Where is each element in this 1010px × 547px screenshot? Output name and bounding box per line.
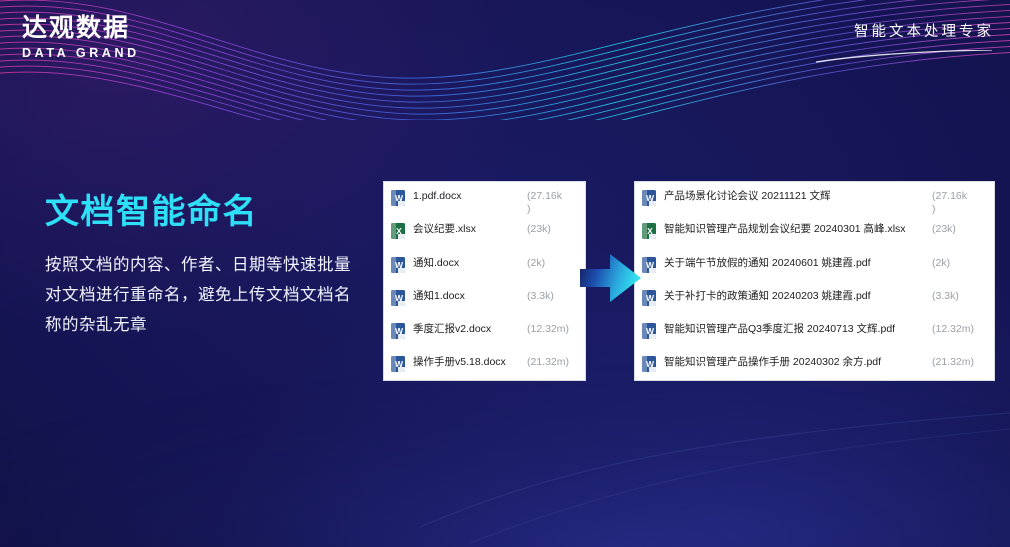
file-list-item[interactable]: W通知.docx(2k) bbox=[384, 249, 585, 282]
word-file-icon: W bbox=[391, 257, 405, 273]
file-list-item[interactable]: W智能知识管理产品Q3季度汇报 20240713 文辉.pdf(12.32m) bbox=[635, 315, 994, 348]
word-file-icon: W bbox=[642, 323, 656, 339]
file-list-before-panel: W1.pdf.docx(27.16k )X会议纪要.xlsx(23k)W通知.d… bbox=[383, 181, 586, 381]
file-list-item[interactable]: X智能知识管理产品规划会议纪要 20240301 高峰.xlsx(23k) bbox=[635, 215, 994, 248]
page-description: 按照文档的内容、作者、日期等快速批量对文档进行重命名，避免上传文档文档名称的杂乱… bbox=[45, 250, 365, 340]
file-list-item[interactable]: W通知1.docx(3.3k) bbox=[384, 282, 585, 315]
file-list-item[interactable]: W季度汇报v2.docx(12.32m) bbox=[384, 315, 585, 348]
file-name: 产品场景化讨论会议 20211121 文辉 bbox=[664, 190, 932, 203]
file-list-item[interactable]: W1.pdf.docx(27.16k ) bbox=[384, 182, 585, 215]
word-file-icon: W bbox=[642, 190, 656, 206]
excel-file-icon: X bbox=[391, 223, 405, 239]
page-title: 文档智能命名 bbox=[45, 192, 365, 232]
file-size: (27.16k ) bbox=[932, 190, 990, 216]
file-size: (12.32m) bbox=[527, 323, 581, 336]
slide-canvas: 达观数据 DATA GRAND 智能文本处理专家 文档智能命名 按照文档的内容、… bbox=[0, 0, 1010, 547]
file-size: (23k) bbox=[527, 223, 581, 236]
file-name: 关于补打卡的政策通知 20240203 姚建霞.pdf bbox=[664, 290, 932, 303]
file-size: (2k) bbox=[527, 257, 581, 270]
word-file-icon: W bbox=[642, 356, 656, 372]
brand-name-cn: 达观数据 bbox=[22, 14, 140, 43]
file-name: 季度汇报v2.docx bbox=[413, 323, 527, 336]
file-size: (2k) bbox=[932, 257, 990, 270]
file-list-item[interactable]: W关于端午节放假的通知 20240601 姚建霞.pdf(2k) bbox=[635, 249, 994, 282]
tagline-underline bbox=[814, 50, 994, 64]
file-list-item[interactable]: W产品场景化讨论会议 20211121 文辉(27.16k ) bbox=[635, 182, 994, 215]
excel-file-icon: X bbox=[642, 223, 656, 239]
file-list-after-panel: W产品场景化讨论会议 20211121 文辉(27.16k )X智能知识管理产品… bbox=[634, 181, 995, 381]
word-file-icon: W bbox=[391, 290, 405, 306]
file-size: (12.32m) bbox=[932, 323, 990, 336]
word-file-icon: W bbox=[391, 323, 405, 339]
copy-block: 文档智能命名 按照文档的内容、作者、日期等快速批量对文档进行重命名，避免上传文档… bbox=[45, 192, 365, 340]
file-list-item[interactable]: W操作手册v5.18.docx(21.32m) bbox=[384, 348, 585, 381]
file-name: 智能知识管理产品操作手册 20240302 余方.pdf bbox=[664, 356, 932, 369]
file-size: (3.3k) bbox=[932, 290, 990, 303]
file-list-item[interactable]: W关于补打卡的政策通知 20240203 姚建霞.pdf(3.3k) bbox=[635, 282, 994, 315]
word-file-icon: W bbox=[391, 190, 405, 206]
file-name: 智能知识管理产品Q3季度汇报 20240713 文辉.pdf bbox=[664, 323, 932, 336]
file-name: 会议纪要.xlsx bbox=[413, 223, 527, 236]
file-name: 通知.docx bbox=[413, 257, 527, 270]
file-name: 1.pdf.docx bbox=[413, 190, 527, 203]
file-size: (21.32m) bbox=[932, 356, 990, 369]
file-name: 智能知识管理产品规划会议纪要 20240301 高峰.xlsx bbox=[664, 223, 932, 236]
file-size: (27.16k ) bbox=[527, 190, 581, 216]
file-name: 通知1.docx bbox=[413, 290, 527, 303]
file-size: (21.32m) bbox=[527, 356, 581, 369]
brand-name-en: DATA GRAND bbox=[22, 46, 140, 60]
brand-logo: 达观数据 DATA GRAND bbox=[22, 14, 140, 60]
arrow-right-icon bbox=[580, 250, 642, 306]
word-file-icon: W bbox=[642, 257, 656, 273]
file-name: 操作手册v5.18.docx bbox=[413, 356, 527, 369]
word-file-icon: W bbox=[642, 290, 656, 306]
file-list-item[interactable]: X会议纪要.xlsx(23k) bbox=[384, 215, 585, 248]
file-name: 关于端午节放假的通知 20240601 姚建霞.pdf bbox=[664, 257, 932, 270]
tagline-block: 智能文本处理专家 bbox=[814, 20, 994, 69]
file-size: (23k) bbox=[932, 223, 990, 236]
word-file-icon: W bbox=[391, 356, 405, 372]
tagline-text: 智能文本处理专家 bbox=[814, 20, 994, 41]
file-size: (3.3k) bbox=[527, 290, 581, 303]
file-list-item[interactable]: W智能知识管理产品操作手册 20240302 余方.pdf(21.32m) bbox=[635, 348, 994, 381]
